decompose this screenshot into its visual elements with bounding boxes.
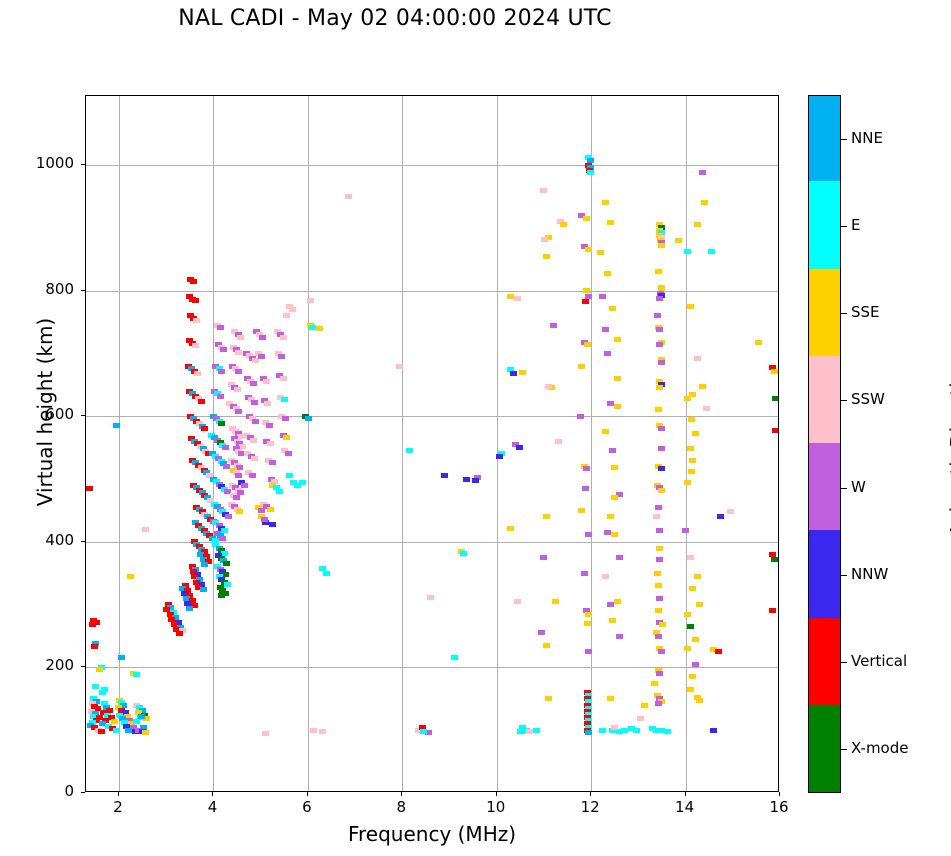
data-point <box>655 608 662 613</box>
data-point <box>200 587 207 592</box>
data-point <box>653 514 660 519</box>
data-point <box>283 435 290 440</box>
data-point <box>307 298 314 303</box>
data-point <box>604 530 611 535</box>
data-point <box>616 634 623 639</box>
data-point <box>611 725 618 730</box>
gridline-vertical <box>497 96 498 791</box>
data-point <box>616 555 623 560</box>
data-point <box>234 387 241 392</box>
data-point <box>258 354 265 359</box>
data-point <box>133 719 140 724</box>
data-point <box>251 456 258 461</box>
data-point <box>282 416 289 421</box>
data-point <box>235 409 242 414</box>
data-point <box>463 477 470 482</box>
data-point <box>252 358 259 363</box>
colorbar-band-e <box>809 181 840 268</box>
colorbar-tick <box>841 139 847 140</box>
data-point <box>441 473 448 478</box>
data-point <box>460 551 467 556</box>
y-axis-tick-label: 0 <box>0 782 74 800</box>
data-point <box>186 606 193 611</box>
data-point <box>656 557 663 562</box>
data-point <box>316 326 323 331</box>
data-point <box>699 170 706 175</box>
data-point <box>583 466 590 471</box>
colorbar-label-ssw: SSW <box>851 390 885 408</box>
data-point <box>602 574 609 579</box>
data-point <box>687 555 694 560</box>
y-axis-tick <box>81 164 85 165</box>
data-point <box>233 495 240 500</box>
gridline-vertical <box>119 96 120 791</box>
colorbar-band-sse <box>809 269 840 356</box>
data-point <box>717 514 724 519</box>
data-point <box>715 649 722 654</box>
data-point <box>519 725 526 730</box>
data-point <box>604 351 611 356</box>
x-axis-tick <box>590 792 591 796</box>
data-point <box>772 428 778 433</box>
x-axis-tick-label: 6 <box>287 798 327 816</box>
data-point <box>472 478 479 483</box>
data-point <box>607 514 614 519</box>
data-point <box>703 406 710 411</box>
data-point <box>578 508 585 513</box>
data-point <box>98 729 105 734</box>
data-point <box>278 354 285 359</box>
gridline-vertical <box>308 96 309 791</box>
data-point <box>263 379 270 384</box>
colorbar-band-w <box>809 443 840 530</box>
x-axis-tick-label: 12 <box>570 798 610 816</box>
data-point <box>614 404 621 409</box>
data-point <box>142 527 149 532</box>
data-point <box>133 672 140 677</box>
data-point <box>176 631 183 636</box>
data-point <box>578 364 585 369</box>
data-point <box>538 630 545 635</box>
data-point <box>655 583 662 588</box>
data-point <box>235 473 242 478</box>
data-point <box>769 608 776 613</box>
data-point <box>656 342 663 347</box>
data-point <box>276 489 283 494</box>
data-point <box>269 522 276 527</box>
data-point <box>550 323 557 328</box>
colorbar-band-vertical <box>809 618 840 705</box>
data-point <box>772 396 778 401</box>
data-point <box>237 335 244 340</box>
data-point <box>694 574 701 579</box>
data-point <box>696 698 703 703</box>
data-point <box>607 602 614 607</box>
data-point <box>192 343 199 348</box>
colorbar-tick <box>841 749 847 750</box>
x-axis-tick-label: 16 <box>759 798 799 816</box>
colorbar-tick <box>841 575 847 576</box>
data-point <box>406 448 413 453</box>
data-point <box>280 376 287 381</box>
colorbar-title: Azimuth Direction <box>946 317 951 577</box>
data-point <box>587 170 594 175</box>
data-point <box>92 684 99 689</box>
data-point <box>659 622 666 627</box>
data-point <box>496 454 503 459</box>
y-axis-tick-label: 200 <box>0 656 74 674</box>
data-point <box>543 514 550 519</box>
data-point <box>611 465 618 470</box>
y-axis-tick <box>81 792 85 793</box>
data-point <box>516 445 523 450</box>
colorbar-label-sse: SSE <box>851 303 880 321</box>
x-axis-tick <box>307 792 308 796</box>
data-point <box>552 599 559 604</box>
data-point <box>651 681 658 686</box>
gridline-vertical <box>402 96 403 791</box>
data-point <box>581 571 588 576</box>
data-point <box>658 649 665 654</box>
data-point <box>222 445 229 450</box>
data-point <box>684 480 691 485</box>
data-point <box>708 249 715 254</box>
data-point <box>319 566 326 571</box>
data-point <box>689 586 696 591</box>
data-point <box>310 728 317 733</box>
data-point <box>545 696 552 701</box>
colorbar-band-ssw <box>809 356 840 443</box>
page-title: NAL CADI - May 02 04:00:00 2024 UTC <box>0 6 790 31</box>
data-point <box>689 674 696 679</box>
data-point <box>771 557 778 562</box>
y-axis-tick <box>81 415 85 416</box>
data-point <box>687 304 694 309</box>
data-point <box>658 446 665 451</box>
ionogram-plot-area <box>85 95 779 792</box>
data-point <box>218 369 225 374</box>
colorbar-tick <box>841 488 847 489</box>
x-axis-tick <box>118 792 119 796</box>
data-point <box>655 505 662 510</box>
data-point <box>701 200 708 205</box>
data-point <box>655 269 662 274</box>
data-point <box>555 439 562 444</box>
data-point <box>687 624 694 629</box>
data-point <box>649 726 656 731</box>
colorbar-band-x-mode <box>809 705 840 792</box>
data-point <box>194 371 201 376</box>
data-point <box>507 294 514 299</box>
data-point <box>727 509 734 514</box>
data-point <box>219 536 226 541</box>
data-point <box>533 728 540 733</box>
data-point <box>201 426 208 431</box>
data-point <box>599 294 606 299</box>
data-point <box>583 216 590 221</box>
data-point <box>543 643 550 648</box>
colorbar-label-w: W <box>851 478 866 496</box>
gridline-vertical <box>213 96 214 791</box>
data-point <box>218 421 225 426</box>
x-axis-tick-label: 4 <box>192 798 232 816</box>
x-axis-tick <box>496 792 497 796</box>
data-point <box>658 488 665 493</box>
x-axis-tick <box>685 792 686 796</box>
data-point <box>235 350 242 355</box>
data-point <box>687 446 694 451</box>
data-point <box>142 730 149 735</box>
data-point <box>585 649 592 654</box>
data-point <box>560 222 567 227</box>
data-point <box>250 381 257 386</box>
data-point <box>286 473 293 478</box>
data-point <box>684 646 691 651</box>
data-point <box>223 561 230 566</box>
data-point <box>602 200 609 205</box>
x-axis-tick-label: 10 <box>476 798 516 816</box>
data-point <box>540 555 547 560</box>
data-point <box>507 526 514 531</box>
data-point <box>585 532 592 537</box>
colorbar-tick <box>841 226 847 227</box>
data-point <box>609 448 616 453</box>
data-point <box>127 574 134 579</box>
colorbar-tick <box>841 400 847 401</box>
data-point <box>289 307 296 312</box>
data-point <box>656 385 663 390</box>
data-point <box>688 417 695 422</box>
data-point <box>614 376 621 381</box>
data-point <box>285 451 292 456</box>
data-point <box>658 360 665 365</box>
data-point <box>614 599 621 604</box>
data-point <box>584 621 591 626</box>
x-axis-tick <box>212 792 213 796</box>
data-point <box>224 582 231 587</box>
data-point <box>420 729 427 734</box>
data-point <box>684 396 691 401</box>
colorbar-band-nne <box>809 95 840 181</box>
colorbar-label-x-mode: X-mode <box>851 739 908 757</box>
data-point <box>621 728 628 733</box>
data-point <box>694 356 701 361</box>
data-point <box>281 397 288 402</box>
data-point <box>694 222 701 227</box>
data-point <box>267 441 274 446</box>
data-point <box>755 340 762 345</box>
data-point <box>658 243 665 248</box>
data-point <box>641 703 648 708</box>
data-point <box>585 247 592 252</box>
data-point <box>577 414 584 419</box>
data-point <box>519 370 526 375</box>
data-point <box>696 602 703 607</box>
data-point <box>514 296 521 301</box>
data-point <box>655 701 662 706</box>
data-point <box>193 318 200 323</box>
data-point <box>684 612 691 617</box>
data-point <box>251 400 258 405</box>
data-point <box>262 731 269 736</box>
data-point <box>235 369 242 374</box>
colorbar-label-e: E <box>851 216 860 234</box>
data-point <box>658 466 665 471</box>
data-point <box>526 729 533 734</box>
gridline-horizontal <box>86 165 778 166</box>
data-point <box>283 313 290 318</box>
data-point <box>267 507 274 512</box>
data-point <box>514 599 521 604</box>
data-point <box>602 327 609 332</box>
data-point <box>201 562 208 567</box>
colorbar-label-vertical: Vertical <box>851 652 907 670</box>
data-point <box>602 429 609 434</box>
data-point <box>345 194 352 199</box>
data-point <box>241 483 248 488</box>
data-point <box>543 254 550 259</box>
data-point <box>628 726 635 731</box>
data-point <box>658 426 665 431</box>
gridline-horizontal <box>86 291 778 292</box>
data-point <box>585 730 592 735</box>
data-point <box>299 480 306 485</box>
data-point <box>218 593 225 598</box>
data-point <box>249 473 256 478</box>
data-point <box>236 509 243 514</box>
data-point <box>252 419 259 424</box>
data-point <box>305 416 312 421</box>
data-point <box>138 714 145 719</box>
data-point <box>540 188 547 193</box>
colorbar <box>808 95 841 793</box>
data-point <box>113 423 120 428</box>
data-point <box>656 296 663 301</box>
data-point <box>259 335 266 340</box>
x-axis-tick-label: 8 <box>381 798 421 816</box>
gridline-horizontal <box>86 667 778 668</box>
data-point <box>220 347 227 352</box>
data-point <box>396 364 403 369</box>
data-point <box>597 250 604 255</box>
data-point <box>692 431 699 436</box>
data-point <box>607 696 614 701</box>
data-point <box>190 279 197 284</box>
data-point <box>585 612 592 617</box>
colorbar-tick <box>841 313 847 314</box>
data-point <box>682 528 689 533</box>
data-point <box>599 728 606 733</box>
data-point <box>654 313 661 318</box>
y-axis-tick <box>81 290 85 291</box>
data-point <box>692 662 699 667</box>
data-point <box>584 342 591 347</box>
data-point <box>655 634 662 639</box>
data-point <box>604 271 611 276</box>
gridline-horizontal <box>86 542 778 543</box>
data-point <box>269 460 276 465</box>
data-point <box>217 325 224 330</box>
x-axis-title: Frequency (MHz) <box>85 822 779 846</box>
data-point <box>609 618 616 623</box>
data-point <box>687 687 694 692</box>
data-point <box>692 637 699 642</box>
data-point <box>264 401 271 406</box>
data-point <box>101 687 108 692</box>
data-point <box>655 407 662 412</box>
data-point <box>427 595 434 600</box>
colorbar-label-nnw: NNW <box>851 565 888 583</box>
y-axis-tick <box>81 666 85 667</box>
data-point <box>656 528 663 533</box>
data-point <box>710 728 717 733</box>
data-point <box>225 514 232 519</box>
data-point <box>89 622 96 627</box>
data-point <box>611 532 618 537</box>
y-axis-tick-label: 1000 <box>0 154 74 172</box>
data-point <box>609 306 616 311</box>
data-point <box>250 438 257 443</box>
data-point <box>96 667 103 672</box>
data-point <box>582 299 589 304</box>
data-point <box>607 220 614 225</box>
data-point <box>261 517 268 522</box>
data-point <box>510 371 517 376</box>
x-axis-tick-label: 2 <box>98 798 138 816</box>
data-point <box>258 508 265 513</box>
data-point <box>451 655 458 660</box>
data-point <box>217 394 224 399</box>
data-point <box>607 401 614 406</box>
plot-canvas <box>86 96 778 791</box>
data-point <box>614 337 621 342</box>
colorbar-tick <box>841 662 847 663</box>
data-point <box>309 325 316 330</box>
data-point <box>280 335 287 340</box>
colorbar-label-nne: NNE <box>851 129 883 147</box>
data-point <box>319 729 326 734</box>
data-point <box>611 495 618 500</box>
data-point <box>689 458 696 463</box>
data-point <box>684 249 691 254</box>
data-point <box>637 716 644 721</box>
data-point <box>654 571 661 576</box>
data-point <box>91 644 98 649</box>
data-point <box>771 369 778 374</box>
data-point <box>192 298 199 303</box>
data-point <box>656 671 663 676</box>
data-point <box>656 546 663 551</box>
data-point <box>656 327 663 332</box>
x-axis-tick-label: 14 <box>665 798 705 816</box>
colorbar-band-nnw <box>809 530 840 617</box>
data-point <box>688 469 695 474</box>
data-point <box>198 399 205 404</box>
data-point <box>675 238 682 243</box>
data-point <box>664 729 671 734</box>
x-axis-tick <box>779 792 780 796</box>
data-point <box>113 728 120 733</box>
y-axis-tick <box>81 541 85 542</box>
data-point <box>86 486 93 491</box>
gridline-vertical <box>591 96 592 791</box>
data-point <box>583 288 590 293</box>
data-point <box>541 237 548 242</box>
data-point <box>266 423 273 428</box>
y-axis-title: Virtual height (km) <box>33 272 57 552</box>
x-axis-tick <box>401 792 402 796</box>
data-point <box>323 571 330 576</box>
